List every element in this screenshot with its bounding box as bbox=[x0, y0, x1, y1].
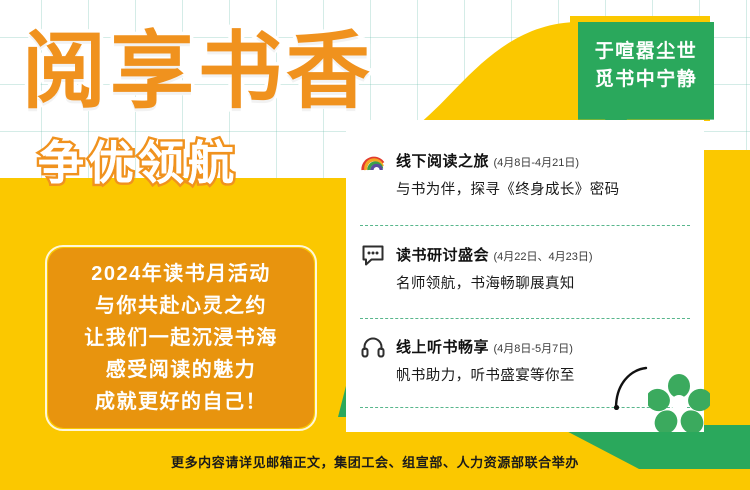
headphones-icon bbox=[360, 334, 386, 360]
activity-title-1: 线下阅读之旅 bbox=[396, 153, 489, 170]
green-flower-icon bbox=[648, 374, 710, 437]
activity-date-1: (4月8日-4月21日) bbox=[493, 157, 579, 169]
activity-desc-1: 与书为伴，探寻《终身成长》密码 bbox=[396, 178, 700, 199]
divider-2 bbox=[360, 318, 690, 319]
activity-title-2: 读书研讨盛会 bbox=[396, 247, 489, 264]
bubble-line-2: 觅书中宁静 bbox=[595, 66, 698, 94]
promo-line-1: 2024年读书月活动 bbox=[91, 260, 271, 289]
activity-text-2: 读书研讨盛会 (4月22日、4月23日) 名师领航，书海畅聊展真知 bbox=[396, 244, 700, 293]
divider-1 bbox=[360, 225, 690, 226]
activity-item-2[interactable]: 读书研讨盛会 (4月22日、4月23日) 名师领航，书海畅聊展真知 bbox=[360, 244, 700, 293]
poster-canvas: 于喧嚣尘世 觅书中宁静 阅享书香 争优领航 争优领航 2024年读书月活动 与你… bbox=[0, 0, 750, 490]
rainbow-icon bbox=[360, 148, 386, 174]
activity-date-2: (4月22日、4月23日) bbox=[493, 251, 592, 263]
promo-line-4: 感受阅读的魅力 bbox=[106, 356, 257, 385]
activity-title-3: 线上听书畅享 bbox=[396, 339, 489, 356]
activity-item-1[interactable]: 线下阅读之旅 (4月8日-4月21日) 与书为伴，探寻《终身成长》密码 bbox=[360, 150, 700, 199]
activity-desc-2: 名师领航，书海畅聊展真知 bbox=[396, 272, 700, 293]
activity-head-2: 读书研讨盛会 (4月22日、4月23日) bbox=[396, 247, 593, 264]
speech-bubble-icon bbox=[360, 242, 386, 268]
page-title: 阅享书香 bbox=[22, 24, 374, 118]
activity-head-1: 线下阅读之旅 (4月8日-4月21日) bbox=[396, 153, 579, 170]
promo-line-2: 与你共赴心灵之约 bbox=[95, 292, 267, 321]
activity-date-3: (4月8日-5月7日) bbox=[493, 343, 572, 355]
curved-arrow-icon bbox=[612, 366, 652, 415]
activity-text-1: 线下阅读之旅 (4月8日-4月21日) 与书为伴，探寻《终身成长》密码 bbox=[396, 150, 700, 199]
bubble-line-1: 于喧嚣尘世 bbox=[595, 38, 698, 66]
footer-note: 更多内容请详见邮箱正文，集团工会、组宣部、人力资源部联合举办 bbox=[0, 452, 750, 471]
page-subtitle-fill: 争优领航 bbox=[38, 140, 238, 186]
activity-head-3: 线上听书畅享 (4月8日-5月7日) bbox=[396, 339, 573, 356]
promo-line-5: 成就更好的自己！ bbox=[95, 388, 267, 417]
promo-box: 2024年读书月活动 与你共赴心灵之约 让我们一起沉浸书海 感受阅读的魅力 成就… bbox=[48, 248, 314, 428]
promo-line-3: 让我们一起沉浸书海 bbox=[84, 324, 278, 353]
